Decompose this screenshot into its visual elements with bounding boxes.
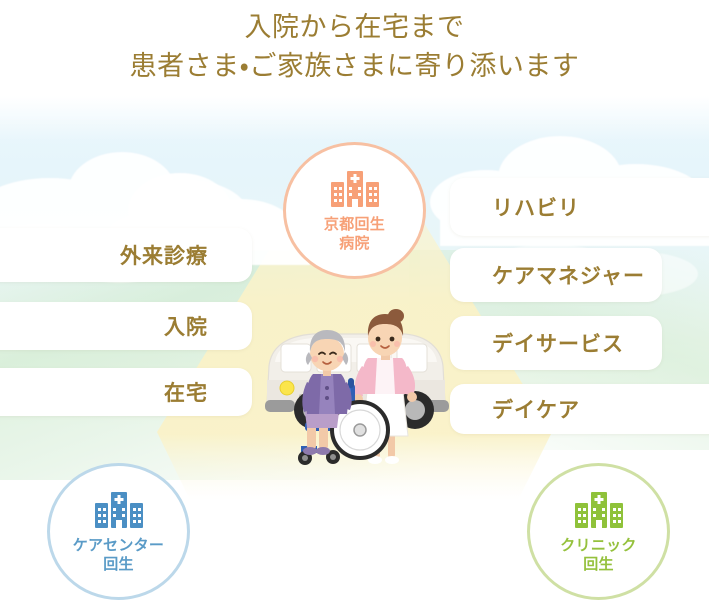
facility-badge-hospital[interactable]: 京都回生 病院 (283, 142, 426, 279)
infographic-canvas: 入院から在宅まで 患者さま・ご家族さまに寄り添います 外来診療 入院 在宅 リハ… (0, 0, 709, 600)
facility-badge-care-center[interactable]: ケアセンター 回生 (47, 463, 190, 600)
service-pill-day-care[interactable]: デイケア (450, 384, 709, 434)
service-pill-rehabilitation[interactable]: リハビリ (450, 178, 709, 236)
facility-badge-hospital-label: 京都回生 病院 (324, 215, 385, 253)
caregiver-wheelchair-van-illustration (255, 300, 460, 468)
service-pill-inpatient[interactable]: 入院 (0, 302, 252, 350)
hospital-building-icon (93, 490, 145, 530)
facility-badge-clinic[interactable]: クリニック 回生 (527, 463, 670, 600)
service-pill-care-manager[interactable]: ケアマネジャー (450, 248, 662, 302)
hospital-building-icon (573, 490, 625, 530)
facility-badge-clinic-label: クリニック 回生 (560, 536, 637, 574)
service-pill-day-service[interactable]: デイサービス (450, 316, 662, 370)
hospital-building-icon (329, 169, 381, 209)
page-title: 入院から在宅まで 患者さま・ご家族さまに寄り添います (0, 8, 709, 86)
service-pill-home-care[interactable]: 在宅 (0, 368, 252, 416)
service-pill-outpatient[interactable]: 外来診療 (0, 228, 252, 282)
facility-badge-care-center-label: ケアセンター 回生 (73, 536, 165, 574)
